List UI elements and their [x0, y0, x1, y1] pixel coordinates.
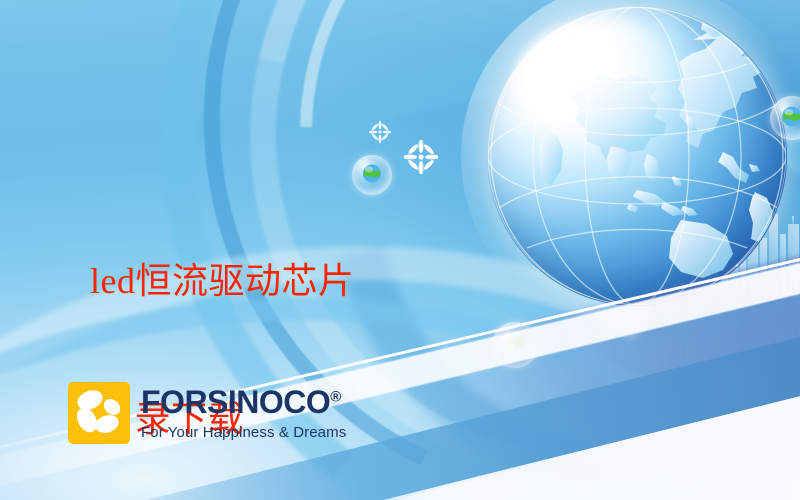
forsinoco-wordmark: FORSINOCO® — [141, 386, 346, 418]
forsinoco-tagline: For Your Happiness & Dreams — [141, 425, 346, 440]
forsinoco-logo: FORSINOCO® For Your Happiness & Dreams — [68, 382, 346, 444]
forsinoco-logo-text: FORSINOCO® For Your Happiness & Dreams — [141, 386, 346, 440]
globe-specular-highlight — [511, 18, 685, 156]
sparkle-small — [369, 121, 391, 143]
mini-globe-icon-corner — [780, 104, 800, 133]
bubble-sprout — [492, 322, 538, 368]
headline-text: led恒流驱动芯片 目录下载 — [84, 166, 424, 500]
registered-trademark-symbol: ® — [330, 388, 341, 405]
forsinoco-pinwheel-mark — [68, 382, 130, 444]
led-driver-catalog-banner: led恒流驱动芯片 目录下载 FORSINOCO® For Your Happi… — [0, 0, 800, 500]
world-globe — [487, 6, 787, 306]
headline-line-1: led恒流驱动芯片 — [84, 258, 424, 304]
green-sprout-icon — [502, 330, 528, 361]
wordmark-label: FORSINOCO — [141, 384, 330, 420]
